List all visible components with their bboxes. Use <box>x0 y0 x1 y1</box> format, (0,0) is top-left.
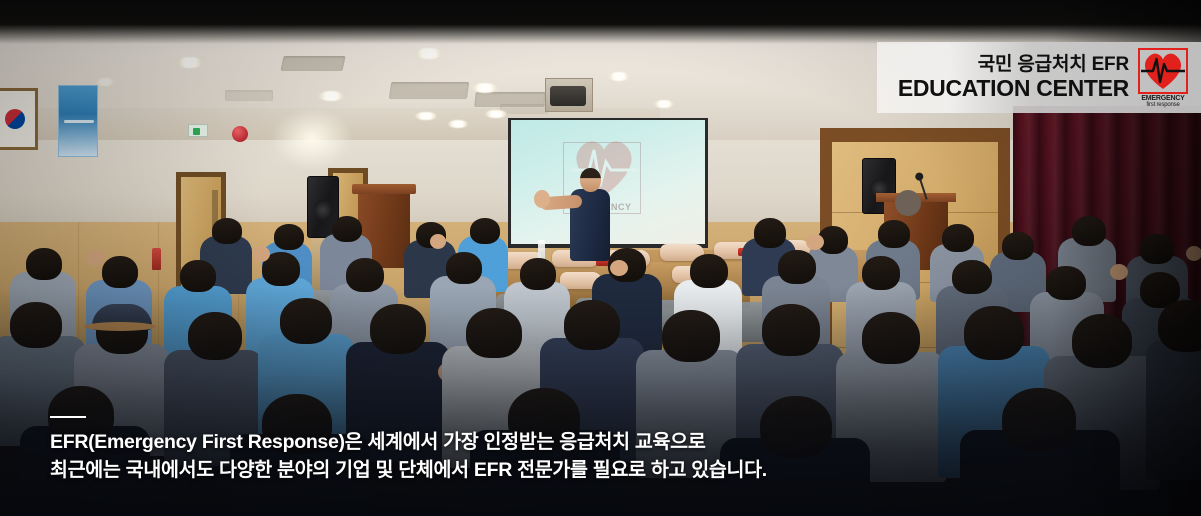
banner-title-line1: 국민 응급처치 EFR <box>898 54 1129 76</box>
caption-line-1: EFR(Emergency First Response)은 세계에서 가장 인… <box>50 429 767 457</box>
efr-logo: EMERGENCY first response <box>1135 48 1191 108</box>
audience-cap-brim <box>84 322 156 331</box>
audience-head <box>1002 388 1076 452</box>
efr-logo-border <box>1138 48 1188 94</box>
audience-head <box>964 306 1024 360</box>
audience-head <box>520 258 556 290</box>
caption-block: EFR(Emergency First Response)은 세계에서 가장 인… <box>50 416 767 484</box>
audience-head <box>1046 266 1086 300</box>
instructor-hand <box>534 190 550 208</box>
audience-head <box>102 256 138 288</box>
ceiling-light <box>608 72 630 81</box>
audience-head <box>778 250 816 284</box>
taegeuk-circle <box>5 109 25 129</box>
audience-head <box>280 298 332 344</box>
audience-hand <box>610 260 628 276</box>
audience-hand <box>1186 246 1201 261</box>
banner-title-block: 국민 응급처치 EFR EDUCATION CENTER <box>898 54 1135 102</box>
wall-poster <box>58 85 98 157</box>
ceiling-light <box>95 78 115 86</box>
instructor-head <box>580 168 601 192</box>
audience-head <box>754 218 786 248</box>
audience-head <box>446 252 482 284</box>
audience-head <box>1072 314 1132 368</box>
audience-head <box>188 312 242 360</box>
hero-banner-image: EMERGENCY <box>0 0 1201 516</box>
audience-head <box>1072 216 1106 246</box>
efr-sub-line1: EMERGENCY <box>1141 95 1184 102</box>
audience-head <box>952 260 992 294</box>
audience-head <box>1002 232 1034 260</box>
audience-hand <box>86 250 104 266</box>
efr-sub-line2: first response <box>1141 102 1184 108</box>
audience-hand <box>806 234 824 250</box>
audience-head <box>690 254 728 288</box>
audience-head <box>942 224 974 252</box>
ac-vent <box>225 90 273 101</box>
audience-head <box>470 218 500 244</box>
audience-head <box>1140 234 1174 264</box>
caption-divider <box>50 416 86 418</box>
ac-vent <box>389 82 469 99</box>
audience-head <box>370 304 426 354</box>
ceiling-light <box>654 100 674 108</box>
fire-alarm-bell <box>232 126 248 142</box>
ac-vent <box>500 104 548 114</box>
audience-head <box>466 308 522 358</box>
lectern-left-top <box>352 184 416 194</box>
audience-head <box>332 216 362 242</box>
exit-sign <box>188 124 208 137</box>
projector <box>550 86 586 106</box>
ceiling-light <box>485 110 507 118</box>
ceiling-light <box>448 120 468 128</box>
heart-ecg-icon <box>1141 51 1185 91</box>
banner-title-line2: EDUCATION CENTER <box>898 75 1129 101</box>
audience-head <box>1158 300 1201 352</box>
ceiling-light <box>176 57 204 68</box>
education-center-banner: 국민 응급처치 EFR EDUCATION CENTER EMERGENCY f… <box>877 42 1201 113</box>
audience-head <box>10 302 62 348</box>
audience-head <box>760 396 832 458</box>
audience-head <box>274 224 304 250</box>
audience-body <box>1146 340 1201 480</box>
ceiling-light <box>318 91 344 101</box>
audience-head <box>878 220 910 248</box>
audience-head <box>662 310 720 362</box>
audience-head <box>564 300 620 350</box>
audience-head <box>26 248 62 280</box>
audience-head <box>180 260 216 292</box>
audience-head <box>862 312 920 364</box>
audience-hand <box>1110 264 1128 280</box>
ceiling-light <box>472 83 498 93</box>
audience-hand <box>430 234 446 249</box>
ceiling-light <box>414 48 444 59</box>
audience-head <box>762 304 820 356</box>
korean-flag-frame <box>0 88 38 150</box>
audience-head <box>212 218 242 244</box>
audience-head <box>346 258 384 292</box>
audience-head <box>862 256 900 290</box>
wall-light-glow <box>272 108 352 170</box>
efr-logo-subtext: EMERGENCY first response <box>1141 95 1184 108</box>
person-at-lectern <box>895 190 921 216</box>
audience-hand <box>252 246 270 262</box>
ac-vent <box>280 56 345 71</box>
caption-line-2: 최근에는 국내에서도 다양한 분야의 기업 및 단체에서 EFR 전문가를 필요… <box>50 457 767 485</box>
ceiling-light <box>415 112 437 120</box>
